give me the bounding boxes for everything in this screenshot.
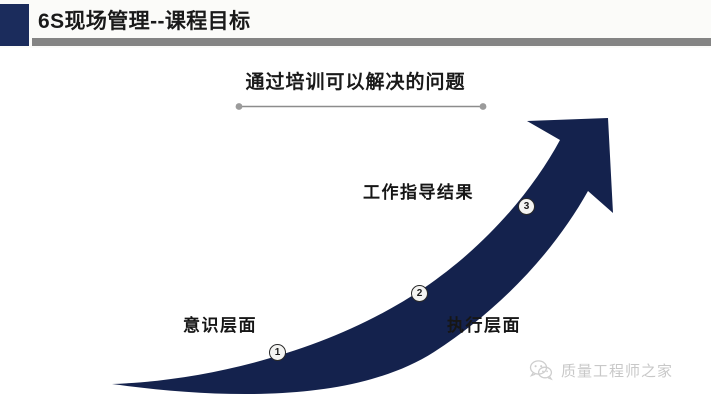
step-marker-1: 1: [269, 344, 286, 361]
rising-curved-arrow: [0, 0, 711, 400]
step-marker-2: 2: [411, 285, 428, 302]
step-marker-3: 3: [518, 198, 535, 215]
stage-label-awareness: 意识层面: [183, 311, 257, 336]
wechat-logo-icon: [528, 357, 554, 383]
stage-label-result: 工作指导结果: [363, 178, 474, 203]
watermark: 质量工程师之家: [528, 357, 673, 383]
slide-canvas: 6S现场管理--课程目标 通过培训可以解决的问题 意识层面 执行层面 工作指导结…: [0, 0, 711, 400]
watermark-text: 质量工程师之家: [561, 360, 673, 381]
stage-label-execution: 执行层面: [447, 311, 521, 336]
